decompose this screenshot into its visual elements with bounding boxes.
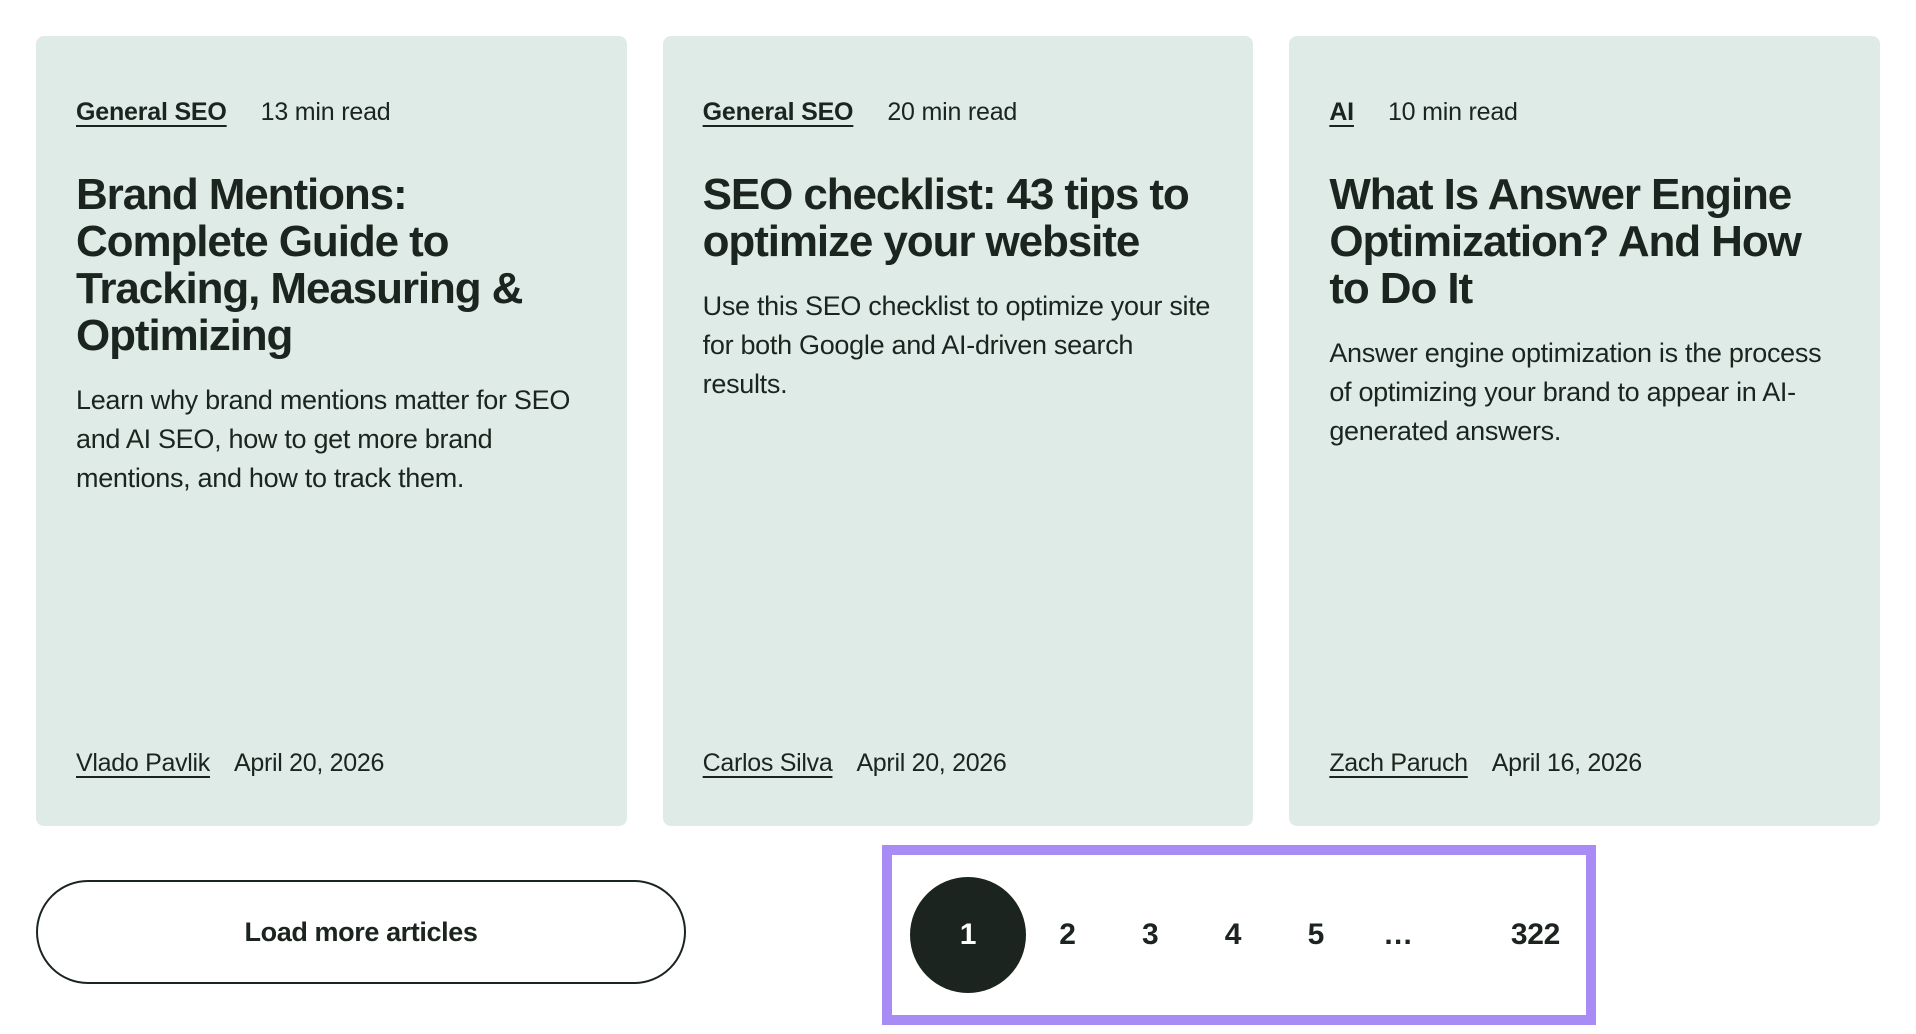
- card-title[interactable]: Brand Mentions: Complete Guide to Tracki…: [76, 171, 587, 359]
- pagination-page-1[interactable]: 1: [910, 855, 1026, 1015]
- card-date: April 16, 2026: [1492, 749, 1642, 778]
- card-category-link[interactable]: General SEO: [76, 98, 227, 127]
- card-category-link[interactable]: AI: [1329, 98, 1354, 127]
- card-meta: General SEO 13 min read: [76, 98, 587, 127]
- card-author-link[interactable]: Carlos Silva: [703, 749, 833, 778]
- pagination-page-5[interactable]: 5: [1274, 855, 1357, 1015]
- pagination-highlight-box: 1 2 3 4 5 … 322: [882, 845, 1596, 1025]
- pagination-current-bubble: 1: [910, 877, 1026, 993]
- card-read-time: 13 min read: [261, 98, 391, 127]
- article-listing-page: General SEO 13 min read Brand Mentions: …: [0, 0, 1916, 1034]
- pagination-page-last[interactable]: 322: [1440, 855, 1560, 1015]
- card-meta: AI 10 min read: [1329, 98, 1840, 127]
- article-card[interactable]: General SEO 13 min read Brand Mentions: …: [36, 36, 627, 826]
- card-author-link[interactable]: Zach Paruch: [1329, 749, 1467, 778]
- pagination-page-4[interactable]: 4: [1192, 855, 1275, 1015]
- pagination-page-3[interactable]: 3: [1109, 855, 1192, 1015]
- card-read-time: 20 min read: [887, 98, 1017, 127]
- card-excerpt: Use this SEO checklist to optimize your …: [703, 287, 1214, 404]
- card-footer: Vlado Pavlik April 20, 2026: [76, 749, 587, 778]
- card-meta: General SEO 20 min read: [703, 98, 1214, 127]
- card-title[interactable]: What Is Answer Engine Optimization? And …: [1329, 171, 1840, 312]
- pagination-page-2[interactable]: 2: [1026, 855, 1109, 1015]
- card-category-link[interactable]: General SEO: [703, 98, 854, 127]
- card-read-time: 10 min read: [1388, 98, 1518, 127]
- pagination: 1 2 3 4 5 … 322: [892, 855, 1586, 1015]
- card-date: April 20, 2026: [856, 749, 1006, 778]
- card-footer: Zach Paruch April 16, 2026: [1329, 749, 1840, 778]
- pagination-ellipsis: …: [1357, 855, 1440, 1015]
- card-author-link[interactable]: Vlado Pavlik: [76, 749, 210, 778]
- card-date: April 20, 2026: [234, 749, 384, 778]
- load-more-articles-button[interactable]: Load more articles: [36, 880, 686, 984]
- card-title[interactable]: SEO checklist: 43 tips to optimize your …: [703, 171, 1214, 265]
- card-excerpt: Answer engine optimization is the proces…: [1329, 334, 1840, 451]
- article-card[interactable]: AI 10 min read What Is Answer Engine Opt…: [1289, 36, 1880, 826]
- card-excerpt: Learn why brand mentions matter for SEO …: [76, 381, 587, 498]
- card-footer: Carlos Silva April 20, 2026: [703, 749, 1214, 778]
- article-card[interactable]: General SEO 20 min read SEO checklist: 4…: [663, 36, 1254, 826]
- article-card-grid: General SEO 13 min read Brand Mentions: …: [36, 36, 1880, 826]
